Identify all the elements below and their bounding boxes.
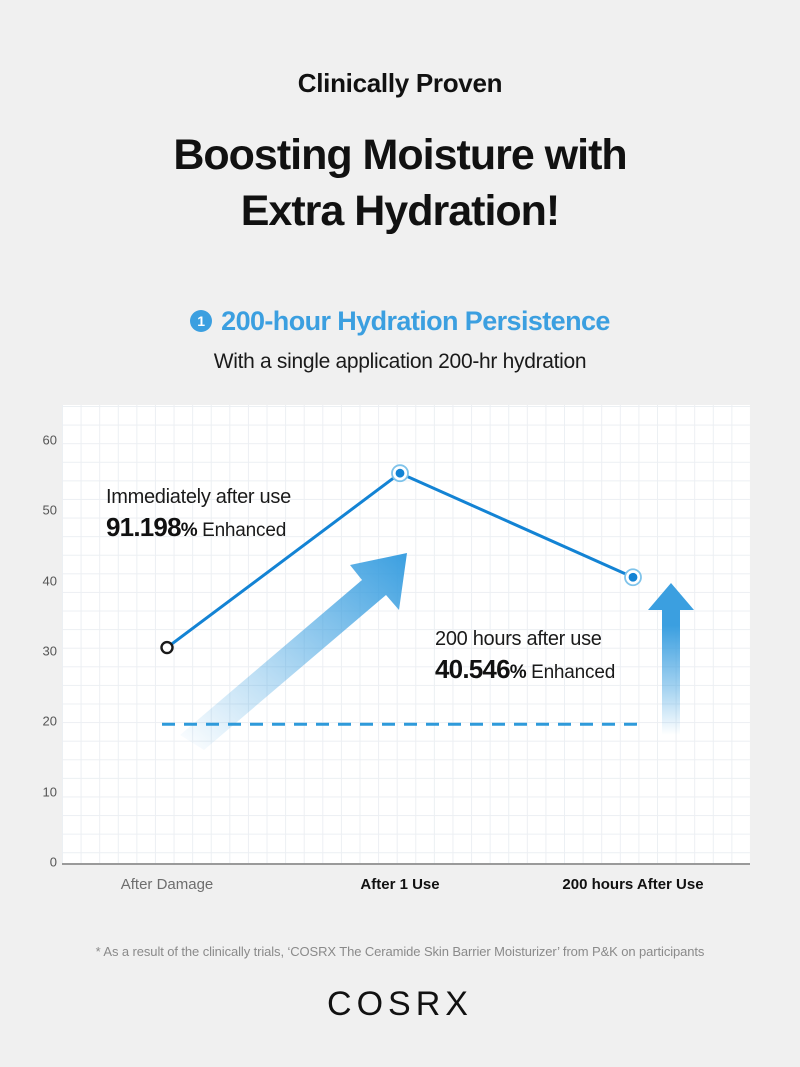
- footnote-text: * As a result of the clinically trials, …: [0, 944, 800, 959]
- annotation-immediate-percent: %: [181, 520, 198, 541]
- y-tick-label: 40: [17, 573, 57, 588]
- brand-logo: COSRX: [0, 985, 800, 1024]
- x-axis-labels: After DamageAfter 1 Use200 hours After U…: [62, 876, 750, 900]
- annotation-immediate-caption: Immediately after use: [106, 485, 291, 510]
- number-badge-icon: 1: [190, 310, 212, 332]
- headline-line-1: Boosting Moisture with: [173, 131, 626, 179]
- section-description: With a single application 200-hr hydrati…: [0, 350, 800, 374]
- diagonal-growth-arrow: [180, 553, 407, 750]
- x-tick-label: 200 hours After Use: [562, 876, 703, 893]
- annotation-immediate-value-row: 91.198% Enhanced: [106, 512, 291, 543]
- section-title: 200-hour Hydration Persistence: [221, 308, 610, 335]
- x-tick-label: After Damage: [121, 876, 214, 893]
- section-heading-row: 1 200-hour Hydration Persistence: [0, 303, 800, 339]
- hydration-line-chart: 0102030405060: [62, 405, 750, 865]
- section-heading-block: 1 200-hour Hydration Persistence With a …: [0, 303, 800, 374]
- annotation-200hours-suffix: Enhanced: [531, 662, 615, 683]
- data-point-marker: [162, 642, 173, 653]
- y-tick-label: 10: [17, 784, 57, 799]
- y-tick-label: 50: [17, 503, 57, 518]
- vertical-growth-arrow: [648, 583, 694, 735]
- annotation-200hours-percent: %: [510, 662, 527, 683]
- y-tick-label: 60: [17, 433, 57, 448]
- headline-line-2: Extra Hydration!: [0, 184, 800, 240]
- y-tick-label: 30: [17, 644, 57, 659]
- eyebrow-text: Clinically Proven: [0, 68, 800, 99]
- y-tick-label: 20: [17, 714, 57, 729]
- page-title: Boosting Moisture with Extra Hydration!: [0, 128, 800, 240]
- data-point-marker: [629, 573, 638, 582]
- annotation-immediate: Immediately after use 91.198% Enhanced: [106, 485, 291, 543]
- infographic-page: Clinically Proven Boosting Moisture with…: [0, 0, 800, 1067]
- annotation-immediate-suffix: Enhanced: [202, 520, 286, 541]
- x-tick-label: After 1 Use: [360, 876, 439, 893]
- annotation-200hours-value-row: 40.546% Enhanced: [435, 654, 615, 685]
- y-tick-label: 0: [17, 855, 57, 870]
- annotation-immediate-value: 91.198: [106, 512, 181, 542]
- chart-svg-layer: [62, 405, 750, 864]
- data-point-marker: [396, 469, 405, 478]
- annotation-200hours-caption: 200 hours after use: [435, 627, 615, 652]
- annotation-200hours-value: 40.546: [435, 654, 510, 684]
- annotation-200hours: 200 hours after use 40.546% Enhanced: [435, 627, 615, 685]
